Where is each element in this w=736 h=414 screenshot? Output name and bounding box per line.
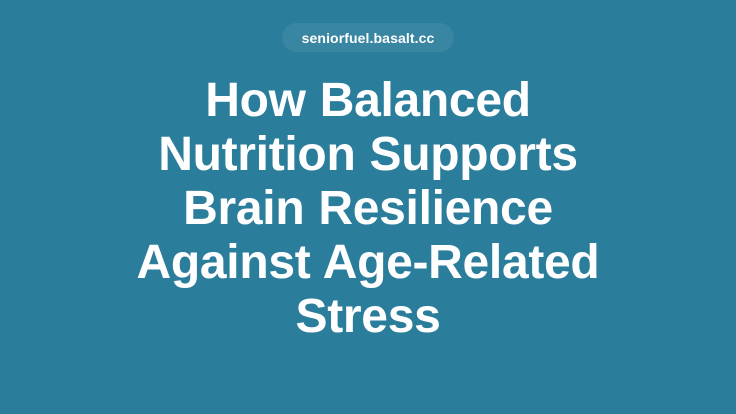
domain-badge-label: seniorfuel.basalt.cc	[302, 31, 435, 45]
headline-line-1: How Balanced	[38, 74, 698, 128]
domain-badge[interactable]: seniorfuel.basalt.cc	[282, 23, 455, 52]
title-card: seniorfuel.basalt.cc How Balanced Nutrit…	[0, 0, 736, 414]
headline-line-4: Against Age-Related	[38, 236, 698, 290]
badge-row: seniorfuel.basalt.cc	[0, 23, 736, 52]
headline-line-2: Nutrition Supports	[38, 128, 698, 182]
headline-wrap: How Balanced Nutrition Supports Brain Re…	[0, 74, 736, 344]
headline-line-3: Brain Resilience	[38, 182, 698, 236]
page-title: How Balanced Nutrition Supports Brain Re…	[38, 74, 698, 344]
headline-line-5: Stress	[38, 290, 698, 344]
